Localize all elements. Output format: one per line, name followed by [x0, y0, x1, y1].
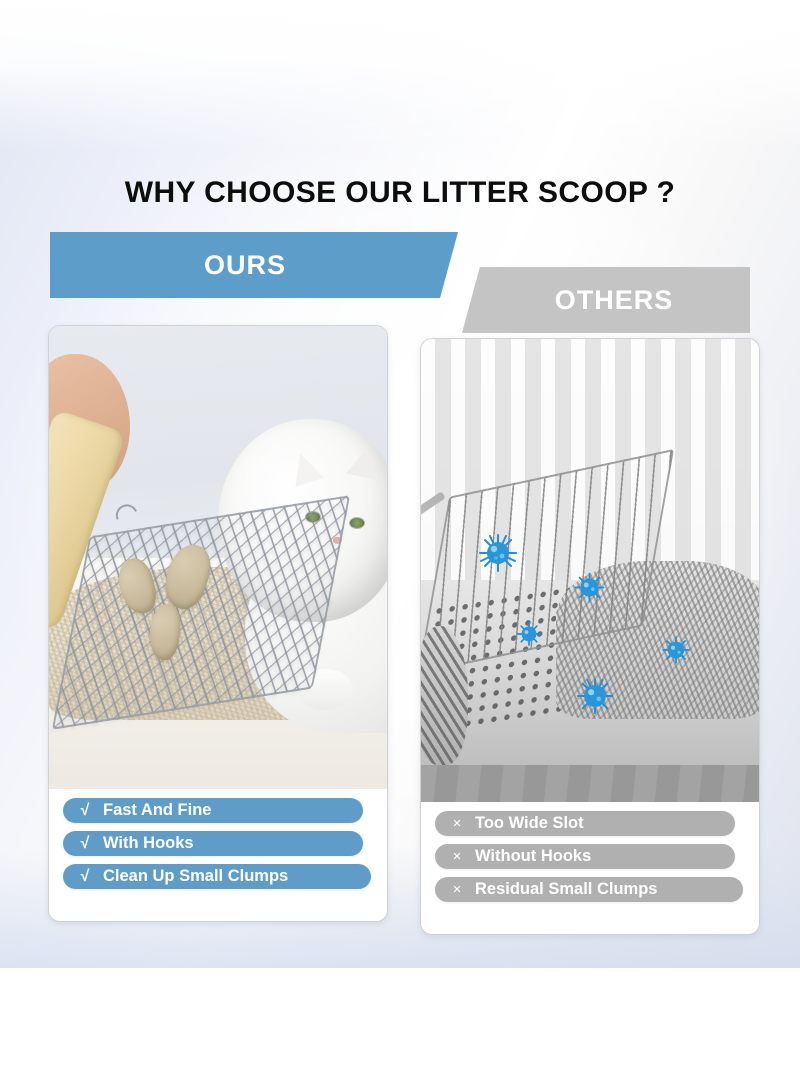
check-icon: √	[75, 868, 95, 886]
feature-item-ours: √ With Hooks	[63, 831, 363, 856]
feature-label: With Hooks	[103, 834, 194, 853]
others-feature-list: × Too Wide Slot × Without Hooks × Residu…	[421, 802, 759, 934]
feature-item-others: × Residual Small Clumps	[435, 877, 743, 902]
feature-label: Residual Small Clumps	[475, 880, 657, 899]
feature-item-others: × Without Hooks	[435, 844, 735, 869]
banner-others: OTHERS	[462, 267, 750, 333]
feature-item-ours: √ Clean Up Small Clumps	[63, 864, 371, 889]
infographic-canvas: WHY CHOOSE OUR LITTER SCOOP ? OURS OTHER…	[0, 0, 800, 1091]
cat-ear-right	[346, 444, 382, 480]
cat-ear-left	[286, 449, 324, 487]
others-photo-greyscale-layer	[421, 339, 759, 802]
banner-ours: OURS	[50, 232, 458, 298]
card-others: × Too Wide Slot × Without Hooks × Residu…	[420, 338, 760, 935]
cross-icon: ×	[447, 848, 467, 865]
cross-icon: ×	[447, 881, 467, 898]
feature-item-ours: √ Fast And Fine	[63, 798, 363, 823]
feature-item-others: × Too Wide Slot	[435, 811, 735, 836]
card-ours: √ Fast And Fine √ With Hooks √ Clean Up …	[48, 325, 388, 922]
feature-label: Too Wide Slot	[475, 814, 584, 833]
check-icon: √	[75, 802, 95, 820]
cat-eye-right	[350, 518, 364, 528]
background-top-fade	[0, 0, 800, 150]
cross-icon: ×	[447, 815, 467, 832]
ours-feature-list: √ Fast And Fine √ With Hooks √ Clean Up …	[49, 789, 387, 921]
feature-label: Fast And Fine	[103, 801, 211, 820]
others-product-photo	[421, 339, 759, 802]
page-title: WHY CHOOSE OUR LITTER SCOOP ?	[0, 176, 800, 210]
ours-product-photo	[49, 326, 387, 789]
feature-label: Without Hooks	[475, 847, 591, 866]
check-icon: √	[75, 835, 95, 853]
banner-ours-label: OURS	[204, 250, 286, 281]
feature-label: Clean Up Small Clumps	[103, 867, 288, 886]
banner-others-label: OTHERS	[555, 285, 674, 316]
